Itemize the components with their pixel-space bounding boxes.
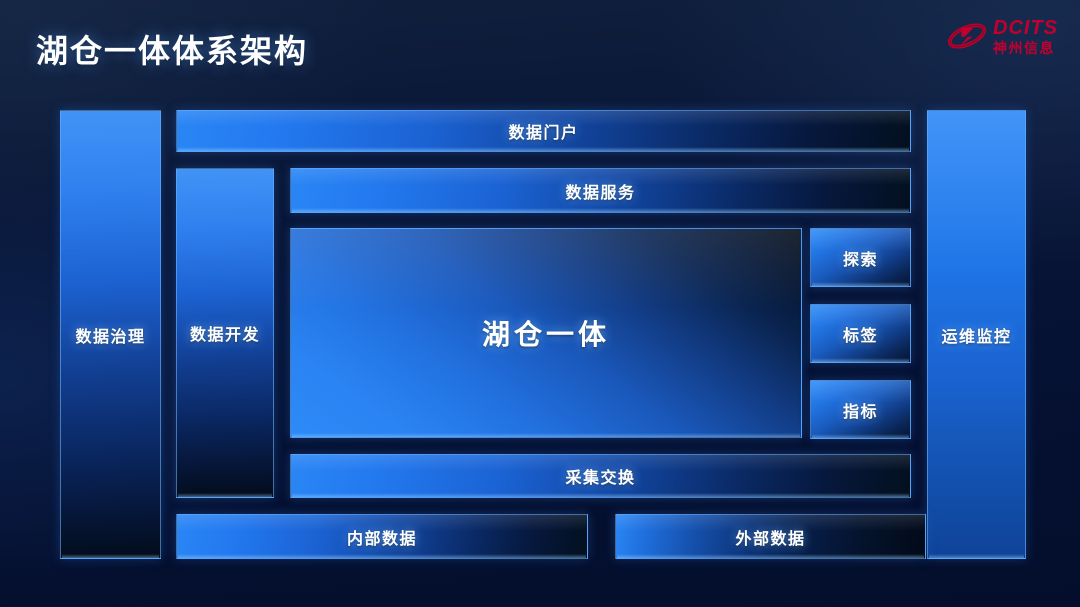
swirl-logo-icon — [947, 16, 987, 56]
brand-logo: DCITS 神州信息 — [947, 16, 1058, 56]
column-ops-monitoring-label: 运维监控 — [941, 323, 1011, 347]
layer-data-ingestion-label: 采集交换 — [565, 464, 635, 488]
chip-explore[interactable]: 探索 — [810, 228, 911, 287]
brand-name-en: DCITS — [993, 18, 1058, 38]
column-ops-monitoring[interactable]: 运维监控 — [927, 110, 1026, 559]
brand-wordmark: DCITS 神州信息 — [993, 18, 1058, 55]
slide-canvas: 湖仓一体体系架构 DCITS 神州信息 数据治理 数据开发 数据门户 数据服务 … — [0, 0, 1080, 607]
source-external-data-label: 外部数据 — [735, 525, 805, 549]
column-data-development[interactable]: 数据开发 — [176, 168, 274, 498]
source-internal-data-label: 内部数据 — [347, 525, 417, 549]
column-data-governance-label: 数据治理 — [75, 323, 145, 347]
brand-name-cn: 神州信息 — [993, 41, 1058, 55]
layer-data-portal-label: 数据门户 — [508, 119, 578, 143]
layer-data-ingestion[interactable]: 采集交换 — [290, 454, 911, 498]
chip-metrics[interactable]: 指标 — [810, 380, 911, 439]
layer-data-service[interactable]: 数据服务 — [290, 168, 911, 213]
column-data-governance[interactable]: 数据治理 — [60, 110, 161, 559]
layer-lakehouse-core[interactable]: 湖仓一体 — [290, 228, 802, 438]
page-title: 湖仓一体体系架构 — [36, 26, 308, 72]
layer-lakehouse-core-label: 湖仓一体 — [482, 313, 610, 353]
column-data-development-label: 数据开发 — [190, 321, 260, 345]
chip-tags[interactable]: 标签 — [810, 304, 911, 363]
chip-explore-label: 探索 — [843, 246, 878, 270]
source-internal-data[interactable]: 内部数据 — [176, 514, 588, 559]
source-external-data[interactable]: 外部数据 — [615, 514, 926, 559]
chip-tags-label: 标签 — [843, 322, 878, 346]
chip-metrics-label: 指标 — [843, 398, 878, 422]
layer-data-service-label: 数据服务 — [565, 179, 635, 203]
layer-data-portal[interactable]: 数据门户 — [176, 110, 911, 152]
